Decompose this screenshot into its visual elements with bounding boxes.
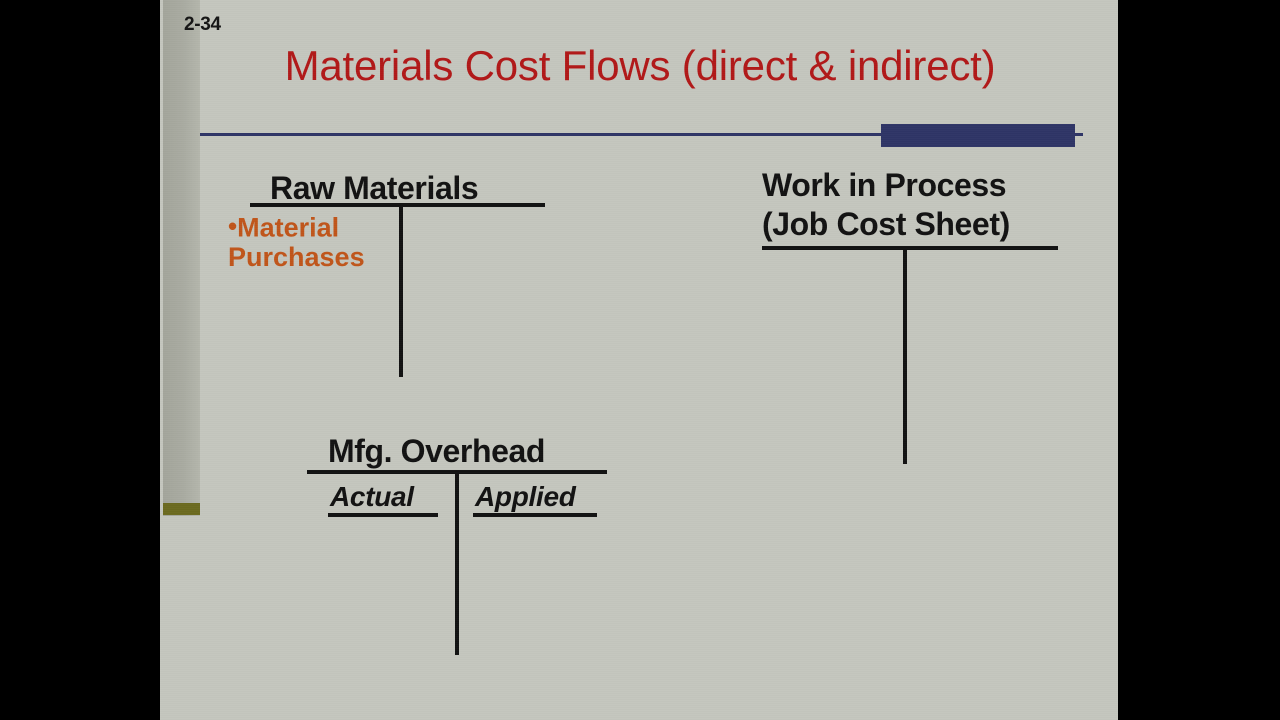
raw-materials-title: Raw Materials bbox=[270, 170, 478, 207]
mfg-overhead-column-applied: Applied bbox=[475, 481, 576, 513]
mfg-overhead-divider bbox=[455, 472, 459, 655]
slide-side-strip-accent bbox=[163, 503, 200, 515]
bullet-icon: • bbox=[228, 211, 237, 241]
slide-title: Materials Cost Flows (direct & indirect) bbox=[200, 42, 1080, 90]
mfg-overhead-applied-underline bbox=[473, 513, 597, 517]
slide-side-strip bbox=[163, 0, 200, 516]
work-in-process-title: Work in Process (Job Cost Sheet) bbox=[762, 166, 1010, 244]
slide-canvas: 2-34 Materials Cost Flows (direct & indi… bbox=[160, 0, 1118, 720]
slide-number: 2-34 bbox=[184, 14, 221, 36]
presentation-stage: 2-34 Materials Cost Flows (direct & indi… bbox=[0, 0, 1280, 720]
raw-materials-entry-line2: Purchases bbox=[228, 242, 365, 272]
mfg-overhead-actual-underline bbox=[328, 513, 438, 517]
raw-materials-divider bbox=[399, 205, 403, 377]
raw-materials-debit-entry: •Material Purchases bbox=[228, 213, 365, 272]
work-in-process-rule bbox=[762, 246, 1058, 250]
work-in-process-title-line2: (Job Cost Sheet) bbox=[762, 206, 1010, 242]
work-in-process-divider bbox=[903, 248, 907, 464]
work-in-process-title-line1: Work in Process bbox=[762, 167, 1006, 203]
title-divider-block bbox=[881, 124, 1075, 147]
raw-materials-entry-line1: Material bbox=[237, 213, 339, 243]
raw-materials-rule bbox=[250, 203, 545, 207]
mfg-overhead-title: Mfg. Overhead bbox=[328, 433, 545, 470]
mfg-overhead-column-actual: Actual bbox=[330, 481, 414, 513]
